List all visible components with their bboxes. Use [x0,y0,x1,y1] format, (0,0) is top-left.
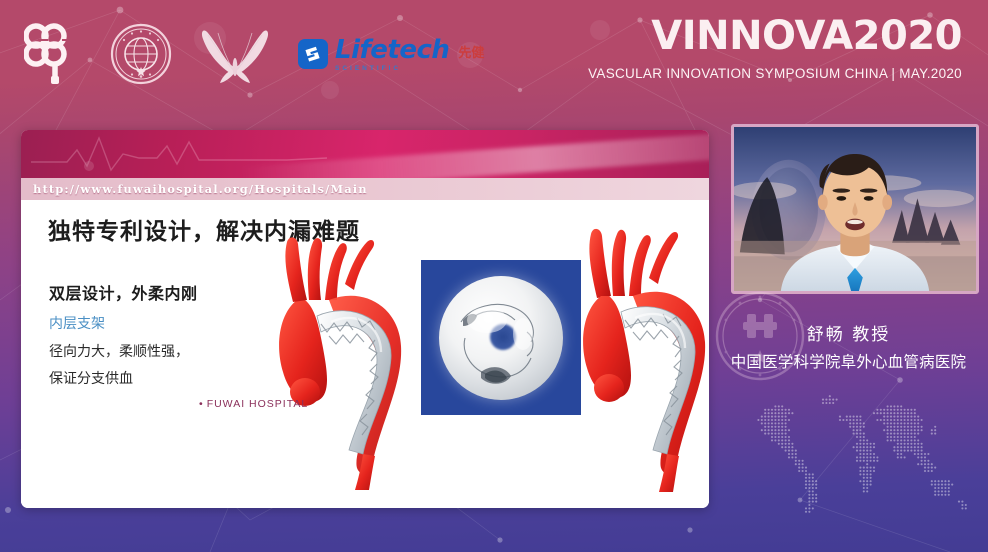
slide-body: 独特专利设计，解决内漏难题 双层设计，外柔内刚 内层支架 径向力大，柔顺性强， … [21,200,709,508]
slide-banner [21,130,709,178]
watermark-bullet-icon: • [199,398,204,410]
event-title: VINNOVA2020 [588,16,962,56]
aortic-arch-figure-left [253,222,433,492]
medical-seal-icon [110,23,172,85]
slide-url-bar: http://www.fuwaihospital.org/Hospitals/M… [21,178,709,200]
speaker-caption: 舒畅 教授 中国医学科学院阜外心血管病医院 [709,320,988,372]
lifetech-wordmark: Lifetech [335,37,449,63]
event-subtitle: VASCULAR INNOVATION SYMPOSIUM CHINA | MA… [588,66,962,81]
world-map-graphic [717,380,988,530]
stent-cross-section-disc [439,276,563,400]
speaker-organization: 中国医学科学院阜外心血管病医院 [709,350,988,372]
event-title-block: VINNOVA2020 VASCULAR INNOVATION SYMPOSIU… [588,16,962,81]
butterfly-icon [196,23,274,85]
speaker-rail: 舒畅 教授 中国医学科学院阜外心血管病医院 [709,112,988,552]
cci-knot-icon [24,22,86,86]
speaker-video-frame [734,127,976,291]
speaker-name: 舒畅 教授 [709,320,988,345]
bullet-subheading: 内层支架 [49,313,198,333]
lifetech-subtext: SCIENTIFIC [335,65,449,72]
lifetech-logo: Lifetech SCIENTIFIC 先健 [298,37,484,72]
sponsor-logo-row: Lifetech SCIENTIFIC 先健 [24,18,484,90]
bullet-line-1: 径向力大，柔顺性强， [49,341,198,361]
slide-bullet-list: 双层设计，外柔内刚 内层支架 径向力大，柔顺性强， 保证分支供血 [49,280,198,395]
stent-cross-section-figure [421,260,581,415]
figure-watermark: •FUWAI HOSPITAL [199,398,308,410]
lifetech-mark-icon [298,39,328,69]
bullet-heading: 双层设计，外柔内刚 [49,280,198,304]
speaker-video-tile[interactable] [731,124,979,294]
aortic-arch-figure-right [567,214,709,494]
bullet-line-2: 保证分支供血 [49,368,198,388]
slide-panel[interactable]: http://www.fuwaihospital.org/Hospitals/M… [21,130,709,508]
lifetech-chinese-name: 先健 [458,47,484,61]
watermark-text: FUWAI HOSPITAL [207,398,309,410]
slide-url-text: http://www.fuwaihospital.org/Hospitals/M… [33,182,368,196]
presentation-stage: Lifetech SCIENTIFIC 先健 VINNOVA2020 VASCU… [0,0,988,552]
page-header: Lifetech SCIENTIFIC 先健 VINNOVA2020 VASCU… [0,0,988,112]
